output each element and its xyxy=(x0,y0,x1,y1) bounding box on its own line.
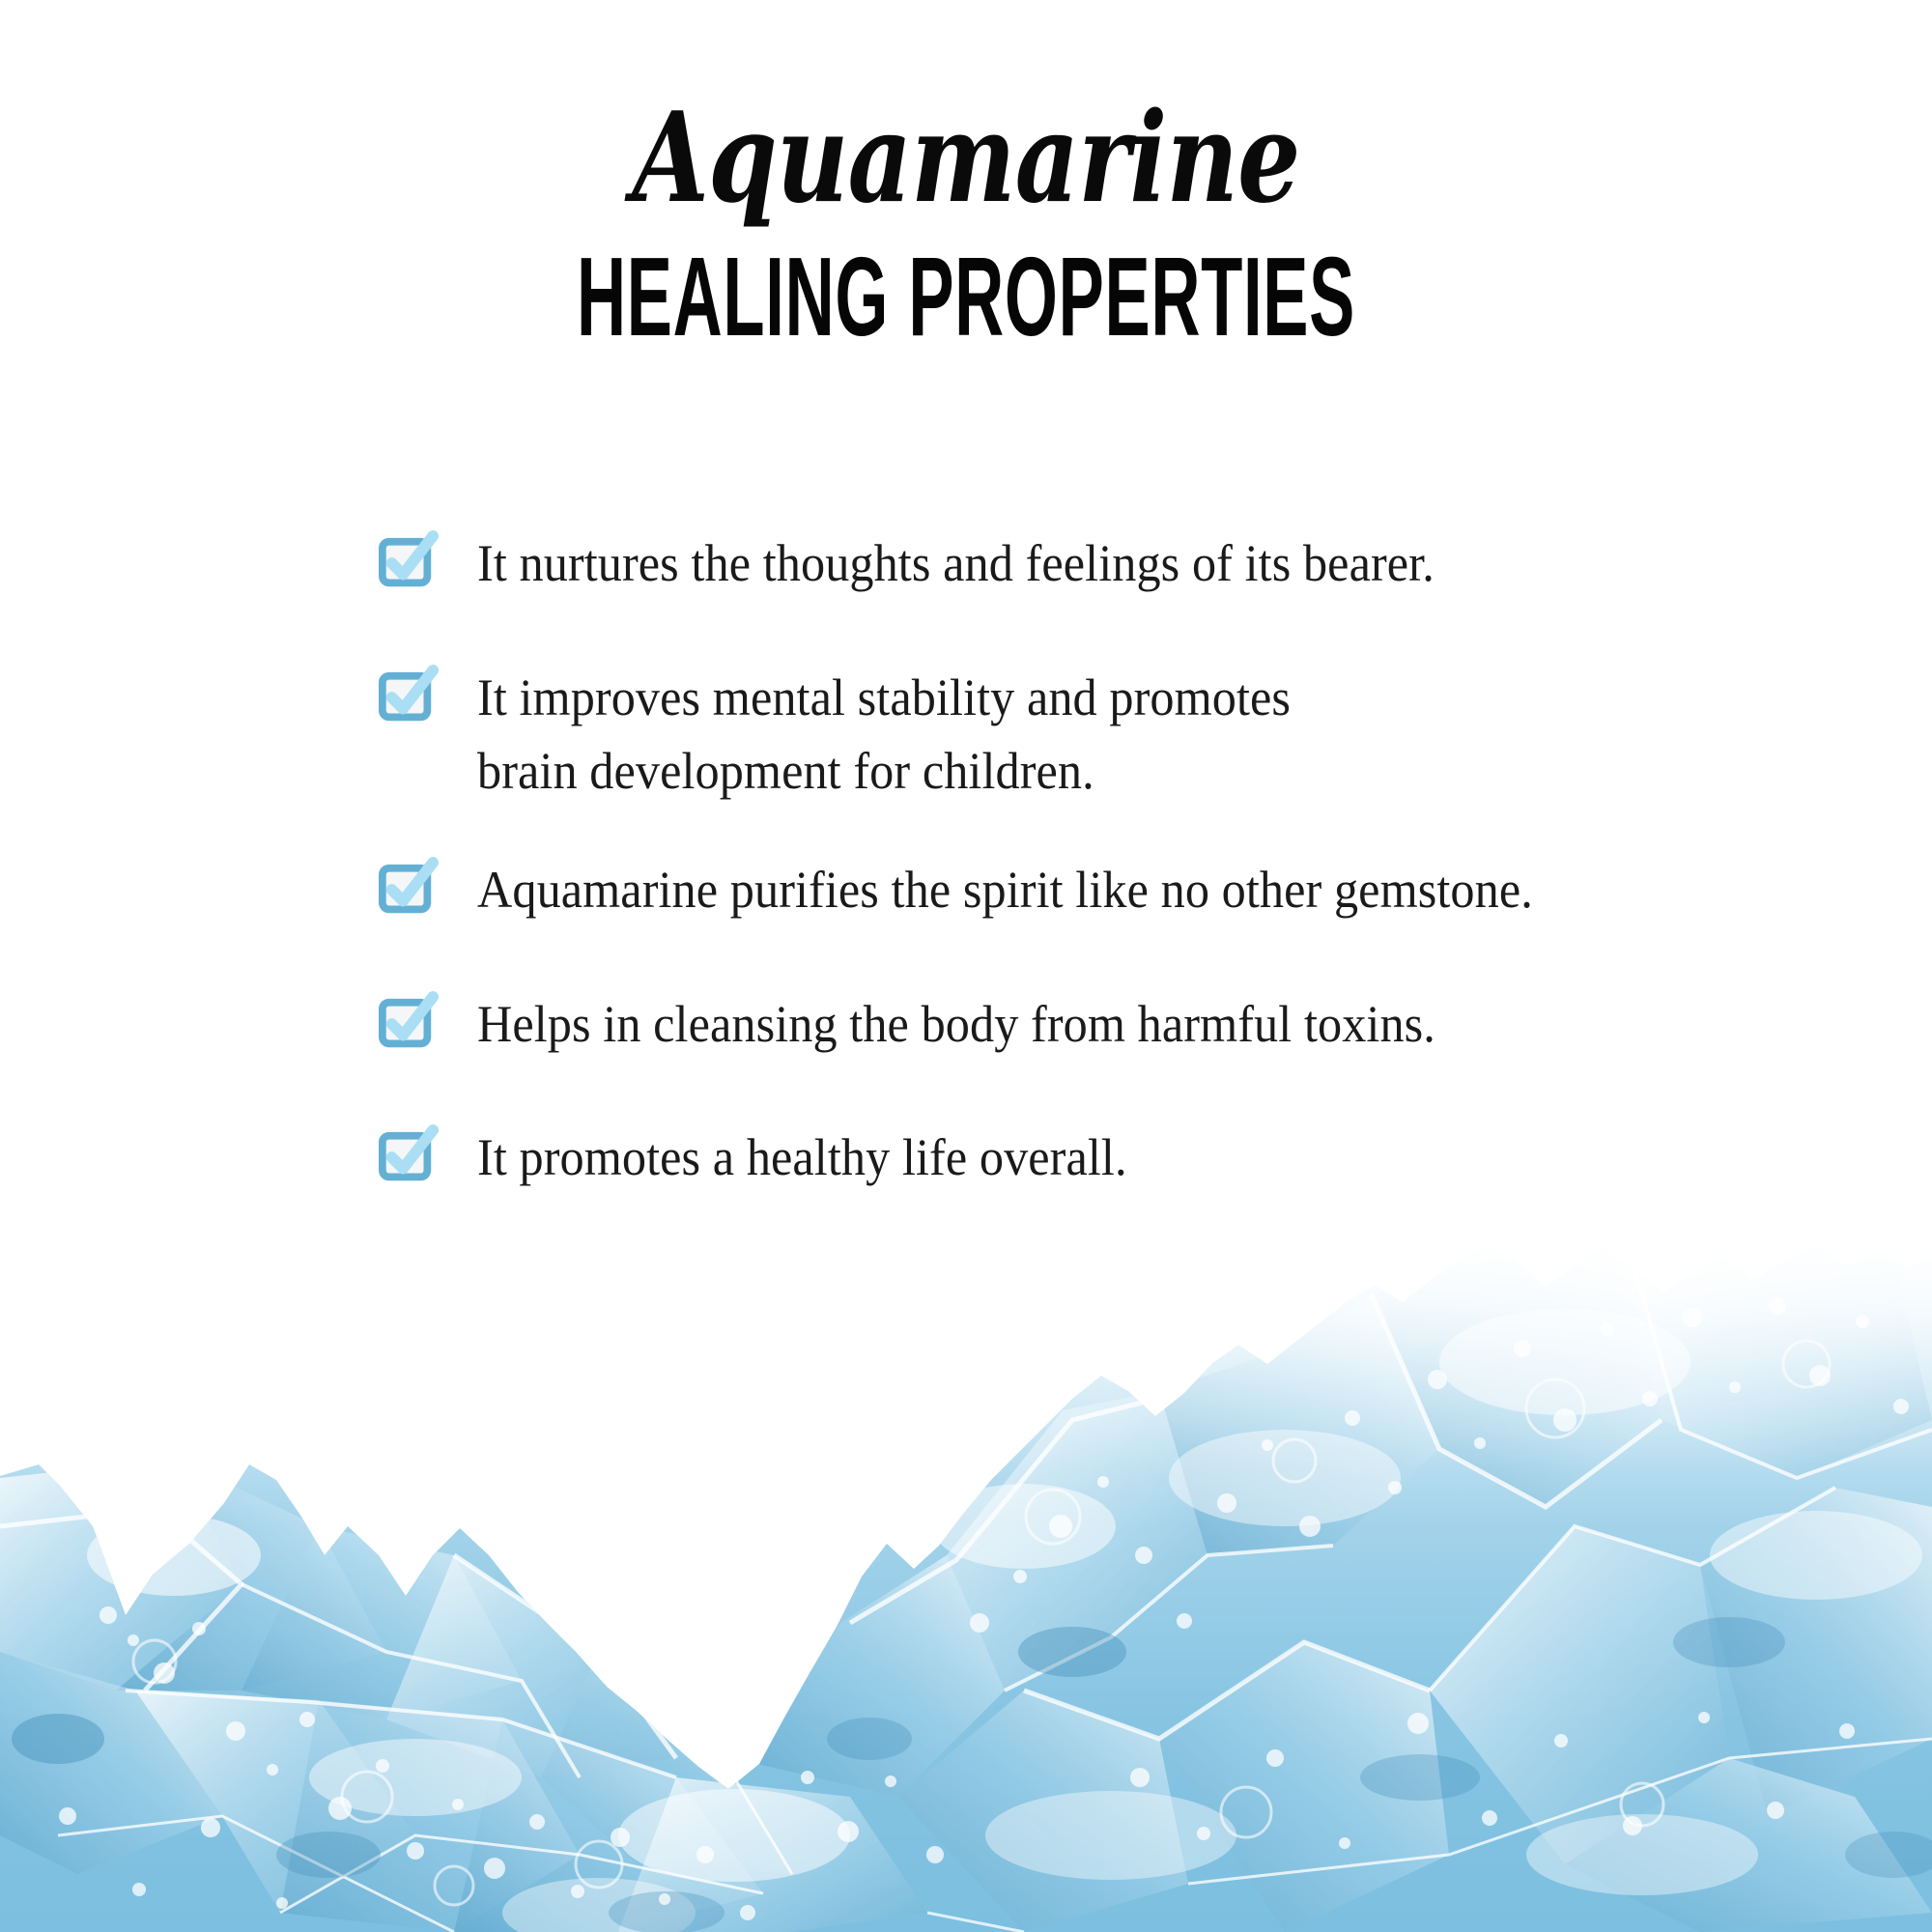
list-item-label: It nurtures the thoughts and feelings of… xyxy=(477,526,1435,601)
poster-canvas: Aquamarine HEALING PROPERTIES It nurture… xyxy=(0,0,1932,1932)
list-item: It nurtures the thoughts and feelings of… xyxy=(379,526,1847,601)
list-item: Helps in cleansing the body from harmful… xyxy=(379,987,1847,1062)
checked-checkbox-icon[interactable] xyxy=(379,1126,439,1186)
checked-checkbox-icon[interactable] xyxy=(379,993,439,1053)
crushed-ice-cubes-photo xyxy=(0,1236,1932,1932)
healing-properties-list: It nurtures the thoughts and feelings of… xyxy=(379,526,1847,1195)
list-item-label: Aquamarine purifies the spirit like no o… xyxy=(477,853,1533,927)
list-item-label: Helps in cleansing the body from harmful… xyxy=(477,987,1435,1062)
page-title-subheading: HEALING PROPERTIES xyxy=(309,213,1623,354)
checked-checkbox-icon[interactable] xyxy=(379,532,439,592)
list-item: It promotes a healthy life overall. xyxy=(379,1121,1847,1195)
list-item-label: It promotes a healthy life overall. xyxy=(477,1121,1127,1195)
checked-checkbox-icon[interactable] xyxy=(379,667,439,726)
list-item: It improves mental stability and promote… xyxy=(379,661,1847,809)
checked-checkbox-icon[interactable] xyxy=(379,859,439,919)
list-item: Aquamarine purifies the spirit like no o… xyxy=(379,853,1847,927)
header: Aquamarine HEALING PROPERTIES xyxy=(0,0,1932,346)
list-item-label: It improves mental stability and promote… xyxy=(477,661,1291,809)
page-title-script: Aquamarine xyxy=(193,0,1739,220)
